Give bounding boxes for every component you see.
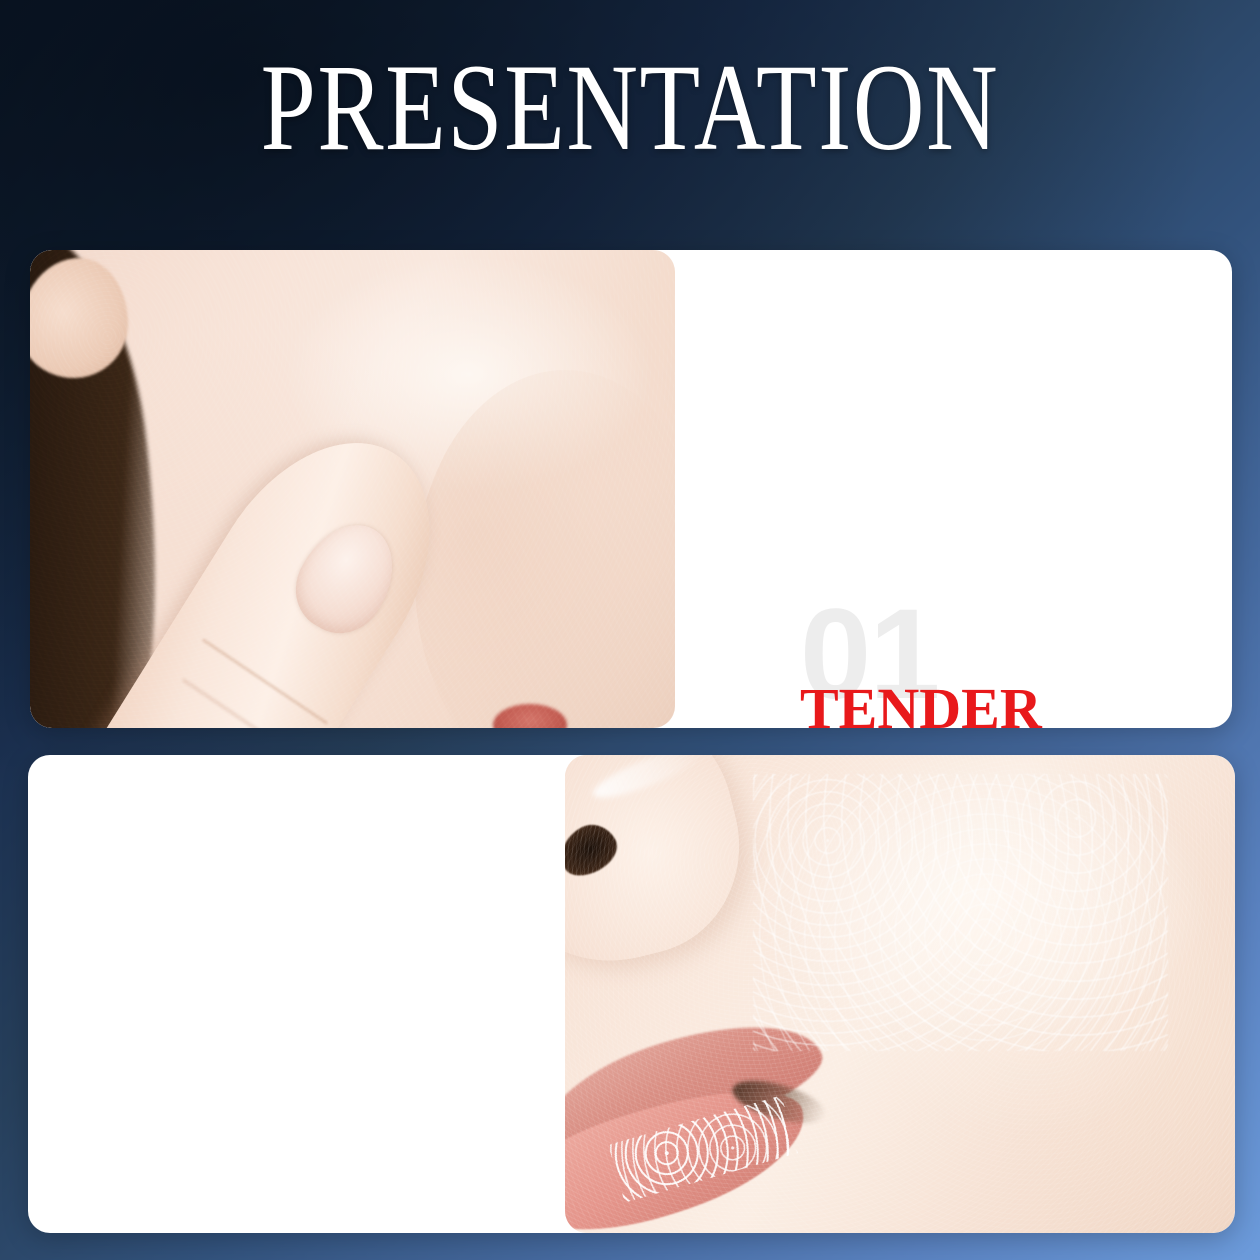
feature-photo-tender bbox=[30, 250, 675, 728]
page-title: PRESENTATION bbox=[126, 46, 1134, 170]
feature-text-panel-01: 01 TENDER The skin silky smooth and mois… bbox=[800, 602, 1220, 728]
skin-texture-overlay bbox=[30, 250, 675, 728]
feature-card-02: 02 HYDRATION Replenish skin moist and ma… bbox=[28, 755, 1235, 1233]
skin-texture-overlay bbox=[565, 755, 1235, 1233]
feature-heading-tender: TENDER bbox=[800, 680, 1220, 728]
feature-photo-hydration bbox=[565, 755, 1235, 1233]
slide-stage: PRESENTATION 01 TENDER The skin silky sm… bbox=[0, 0, 1260, 1260]
feature-card-01: 01 TENDER The skin silky smooth and mois… bbox=[30, 250, 1232, 728]
